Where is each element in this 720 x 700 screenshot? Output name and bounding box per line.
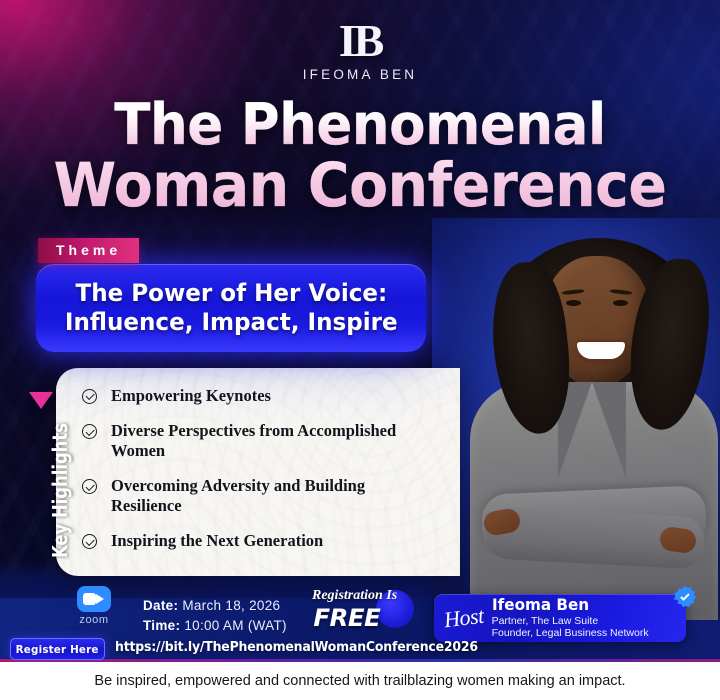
event-time-value: 10:00 AM (WAT) [184,618,286,633]
list-item: Diverse Perspectives from Accomplished W… [82,421,442,460]
registration-free-badge: Registration Is FREE [312,588,412,632]
list-item-label: Overcoming Adversity and Building Resili… [111,476,421,515]
conference-flyer: IB IFEOMA BEN The Phenomenal Woman Confe… [0,0,720,700]
event-date-value: March 18, 2026 [182,598,280,613]
key-highlights-card: Empowering Keynotes Diverse Perspectives… [56,368,460,576]
zoom-platform-logo: zoom [74,586,114,626]
host-card: Host Ifeoma Ben Partner, The Law Suite F… [434,594,686,642]
list-item: Overcoming Adversity and Building Resili… [82,476,442,515]
key-highlights-rail-text: Key Highlights [48,443,72,558]
list-item: Inspiring the Next Generation [82,531,442,550]
registration-free-line-2: FREE [313,604,380,632]
list-item-label: Inspiring the Next Generation [111,531,323,550]
zoom-camera-icon [77,586,111,612]
theme-line-2: Influence, Impact, Inspire [65,308,398,337]
list-item-label: Diverse Perspectives from Accomplished W… [111,421,421,460]
event-time-row: Time: 10:00 AM (WAT) [143,616,287,636]
host-role-2: Founder, Legal Business Network [492,627,649,639]
portrait-eye-left [566,300,581,306]
logo-monogram: IB [0,18,720,64]
brand-logo: IB IFEOMA BEN [0,18,720,82]
logo-wordmark: IFEOMA BEN [0,67,720,82]
host-name: Ifeoma Ben [492,596,641,615]
host-tag-label: Host [443,605,485,632]
register-button-label: Register Here [16,643,99,656]
host-details: Ifeoma Ben Partner, The Law Suite Founde… [492,596,649,640]
page-title: The Phenomenal Woman Conference [0,98,720,216]
theme-box: The Power of Her Voice: Influence, Impac… [36,264,426,352]
event-date-label: Date: [143,598,178,613]
check-circle-icon [82,534,97,549]
portrait-smile [577,342,625,359]
event-date-row: Date: March 18, 2026 [143,596,287,616]
registration-url-link[interactable]: https://bit.ly/ThePhenomenalWomanConfere… [115,640,478,655]
theme-line-1: The Power of Her Voice: [75,279,387,308]
portrait-eye-right [613,300,628,306]
registration-free-line-1: Registration Is [312,588,397,604]
list-item: Empowering Keynotes [82,386,442,405]
key-highlights-rail-label: Key Highlights [48,418,74,558]
caption-bar: Be inspired, empowered and connected wit… [0,662,720,700]
check-circle-icon [82,424,97,439]
check-circle-icon [82,389,97,404]
key-highlights-list: Empowering Keynotes Diverse Perspectives… [56,368,460,561]
key-highlights-triangle-icon [29,392,53,409]
zoom-label: zoom [74,614,114,626]
theme-badge: Theme [38,238,139,263]
caption-text: Be inspired, empowered and connected wit… [94,673,625,689]
list-item-label: Empowering Keynotes [111,386,271,405]
event-time-label: Time: [143,618,180,633]
title-line-2: Woman Conference [25,156,695,216]
host-role-1: Partner, The Law Suite [492,615,649,627]
title-line-1: The Phenomenal [25,98,695,154]
check-circle-icon [82,479,97,494]
verified-badge-icon [672,584,698,610]
register-here-button[interactable]: Register Here [10,638,105,660]
portrait-lapel-right [592,382,626,478]
event-datetime: Date: March 18, 2026 Time: 10:00 AM (WAT… [143,596,287,637]
